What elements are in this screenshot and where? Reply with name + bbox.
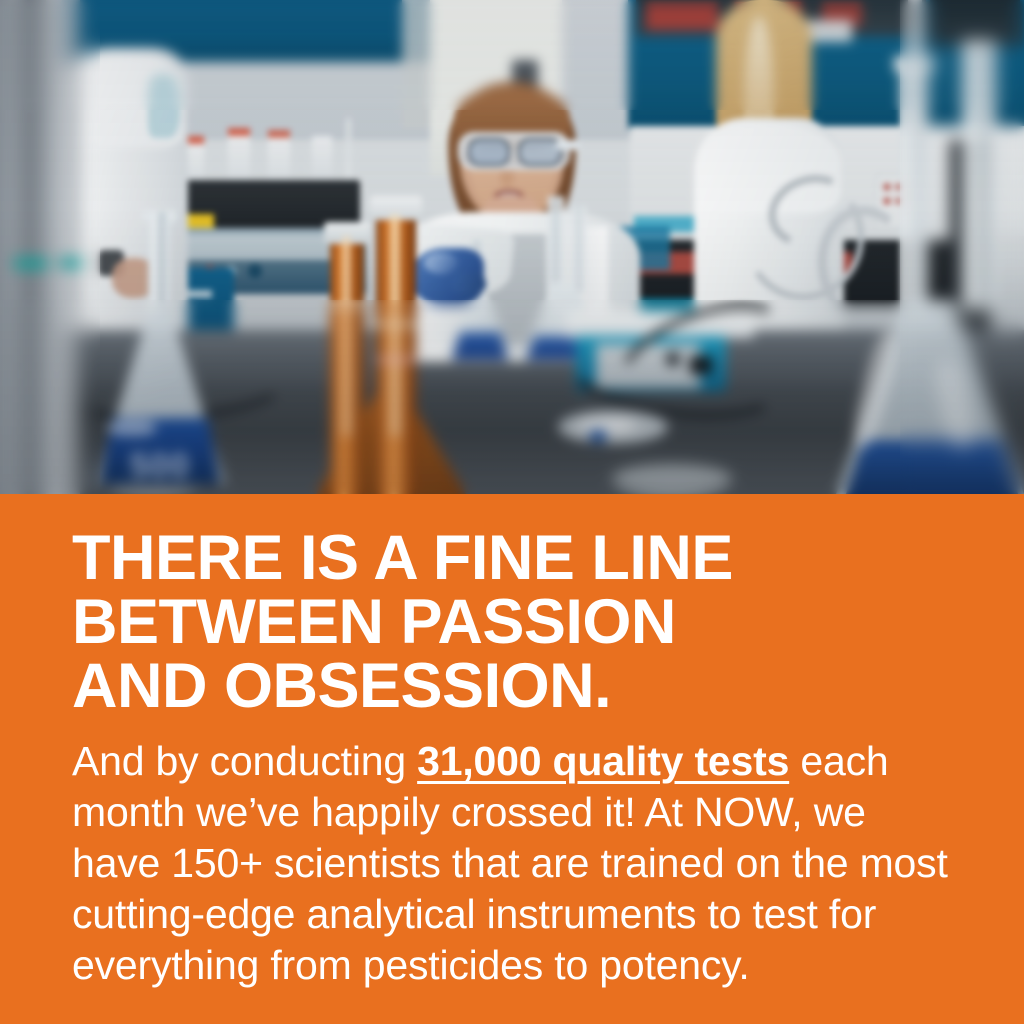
lab-clamp-icon-teal-2 — [60, 258, 82, 268]
foreground-flask-neck-right-1 — [900, 60, 928, 310]
page-title: THERE IS A FINE LINE BETWEEN PASSION AND… — [72, 526, 972, 718]
amber-column-ring-2 — [376, 320, 416, 329]
lab-vial-icon-1 — [186, 140, 204, 184]
foreground-flask-volume-label: 500 — [114, 446, 206, 486]
lab-vial-icon-4 — [312, 136, 332, 184]
scientist-nose — [500, 168, 514, 186]
lab-probe-icon-2 — [346, 118, 351, 186]
safety-goggles-lens-left — [468, 138, 510, 166]
lab-vial-icon-2 — [228, 132, 250, 184]
headline-line-3: AND OBSESSION. — [72, 654, 972, 718]
body-text-before: And by conducting — [72, 738, 417, 784]
social-post-canvas: 500 THERE IS A FINE LINE BETWEEN PASSION… — [0, 0, 1024, 1024]
amber-column-ring-3 — [376, 356, 416, 364]
outlet-dot-3 — [884, 198, 890, 204]
lab-photo: 500 — [0, 0, 1024, 494]
outlet-dot-1 — [884, 184, 890, 190]
nitrile-glove-fingers — [452, 272, 486, 294]
headline-line-1: THERE IS A FINE LINE — [72, 526, 972, 590]
lab-clamp-icon-teal-1 — [14, 258, 48, 269]
lab-vial-cap-2 — [228, 128, 250, 136]
amber-column-highlight-1 — [342, 236, 351, 436]
lab-wall-panel-side — [402, 0, 432, 128]
erlenmeyer-flask-icon-neck-clear-2 — [572, 206, 586, 292]
foreground-flask-highlight — [108, 420, 156, 436]
lab-support-column-seam — [27, 0, 30, 494]
petri-dish-highlight — [578, 418, 636, 432]
lab-vial-cap-1 — [186, 136, 204, 144]
shelf-item-red-1 — [646, 4, 718, 30]
nitrile-glove-highlight — [424, 252, 458, 274]
lab-small-blue-object — [590, 430, 606, 442]
foreground-flask-liquid-blue-right — [846, 440, 1018, 494]
lab-instrument-knob-blue — [248, 264, 262, 278]
flask-liquid-blue-held — [452, 332, 508, 360]
quality-tests-highlight: 31,000 quality tests — [417, 738, 789, 784]
left-colleague-teal-detail — [148, 74, 180, 138]
safety-goggles-strap — [556, 140, 580, 150]
lab-vial-icon-3 — [268, 134, 290, 184]
amber-column-ring-1 — [330, 302, 364, 310]
lab-vial-cap-3 — [268, 130, 290, 138]
headline-line-2: BETWEEN PASSION — [72, 590, 972, 654]
body-paragraph: And by conducting 31,000 quality tests e… — [72, 736, 952, 991]
lab-support-column-inner — [46, 0, 80, 494]
foreground-flask-neck-left — [148, 212, 170, 322]
erlenmeyer-flask-icon-neck-clear — [548, 196, 564, 292]
foreground-flask-neck-right-2 — [962, 40, 996, 310]
shelf-item-white-1 — [806, 20, 852, 42]
bench-reflection-1 — [612, 464, 732, 494]
